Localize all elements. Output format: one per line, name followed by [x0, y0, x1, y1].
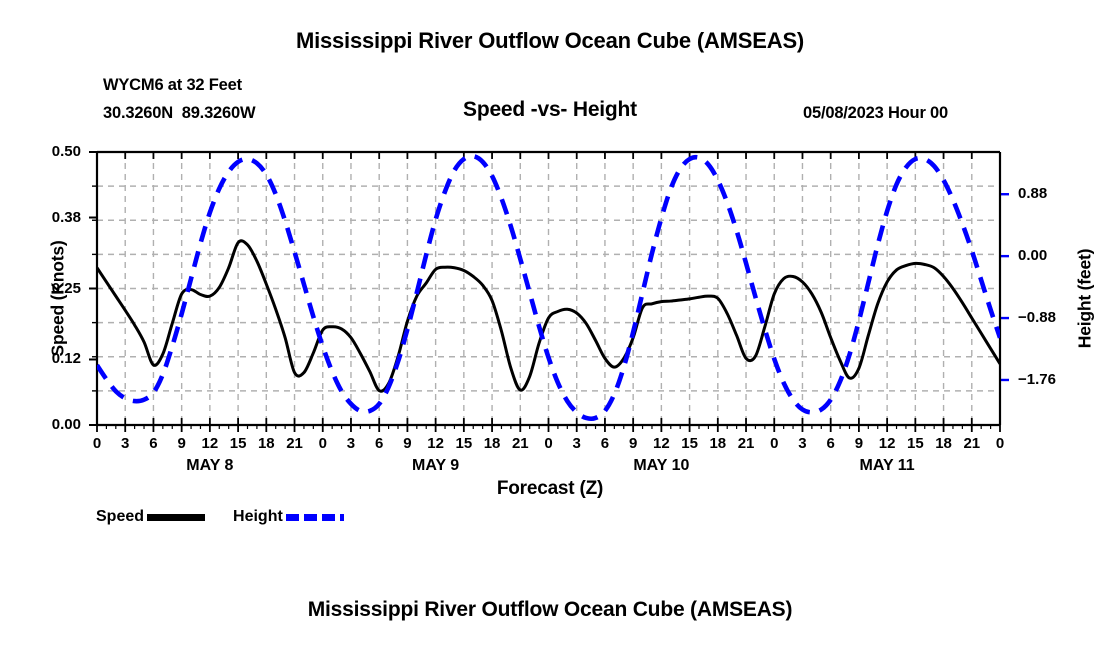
- chart-legend: SpeedHeight: [96, 508, 372, 526]
- x-day-label: MAY 11: [817, 457, 957, 475]
- legend-swatch-dashed: [286, 514, 344, 521]
- x-day-label: MAY 8: [140, 457, 280, 475]
- y-tick-label-right: −1.76: [1018, 371, 1098, 388]
- y-tick-label-left: 0.50: [1, 143, 81, 160]
- page-title-bottom: Mississippi River Outflow Ocean Cube (AM…: [0, 598, 1100, 622]
- legend-swatch-solid: [147, 514, 205, 521]
- x-day-label: MAY 10: [591, 457, 731, 475]
- page-title-top: Mississippi River Outflow Ocean Cube (AM…: [0, 28, 1100, 54]
- station-label: WYCM6 at 32 Feet: [103, 76, 242, 95]
- run-datetime-label: 05/08/2023 Hour 00: [803, 104, 948, 123]
- y-tick-label-right: −0.88: [1018, 309, 1098, 326]
- legend-label: Speed: [96, 508, 144, 526]
- y-tick-label-left: 0.00: [1, 416, 81, 433]
- y-axis-title-right: Height (feet): [1075, 199, 1096, 399]
- gridlines: [97, 152, 1000, 425]
- y-tick-label-right: 0.00: [1018, 247, 1098, 264]
- legend-entry-height: Height: [233, 508, 372, 526]
- legend-label: Height: [233, 508, 283, 526]
- y-tick-label-left: 0.12: [1, 350, 81, 367]
- x-axis-title: Forecast (Z): [0, 478, 1100, 500]
- y-tick-label-left: 0.25: [1, 280, 81, 297]
- axis-ticks: [89, 152, 1009, 432]
- chart-page: Mississippi River Outflow Ocean Cube (AM…: [0, 0, 1100, 650]
- y-tick-label-right: 0.88: [1018, 185, 1098, 202]
- legend-entry-speed: Speed: [96, 508, 233, 526]
- y-axis-title-left: Speed (Knots): [48, 199, 69, 399]
- y-tick-label-left: 0.38: [1, 209, 81, 226]
- x-day-label: MAY 9: [366, 457, 506, 475]
- x-tick-label: 0: [980, 435, 1020, 452]
